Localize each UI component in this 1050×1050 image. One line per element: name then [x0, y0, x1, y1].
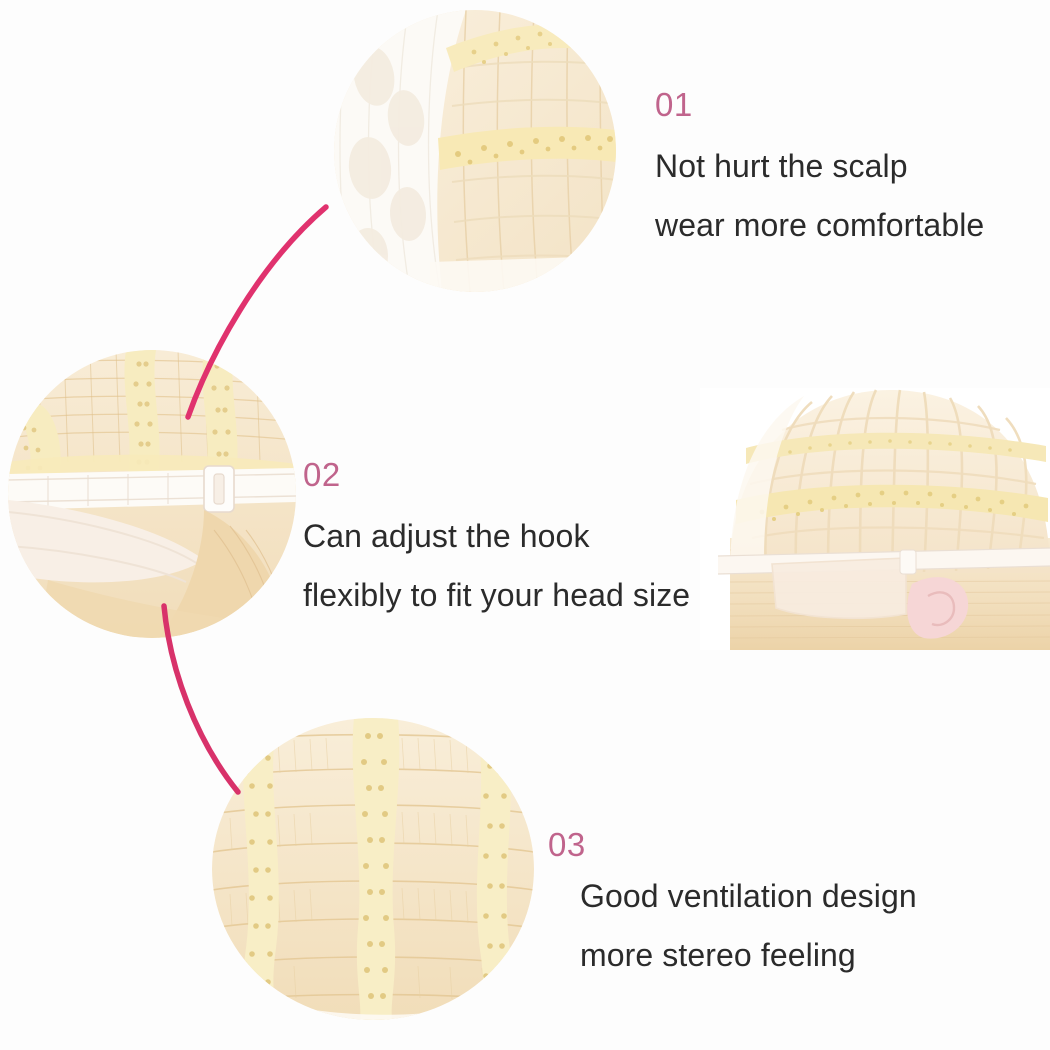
connector-line-02-to-03 — [140, 600, 310, 800]
feature-text-03: Good ventilation design more stereo feel… — [548, 867, 948, 985]
blonde-wig-cap-on-mannequin-head-illustration — [700, 388, 1050, 650]
feature-line-03-b: more stereo feeling — [580, 926, 948, 985]
infographic-canvas: 01 Not hurt the scalp wear more comforta… — [0, 0, 1050, 1050]
connector-line-02-to-01 — [180, 195, 390, 425]
feature-line-03-a: Good ventilation design — [580, 867, 948, 926]
feature-line-02-a: Can adjust the hook — [303, 507, 723, 566]
hero-product-photo — [700, 388, 1050, 650]
feature-line-01-a: Not hurt the scalp — [655, 137, 1035, 196]
feature-text-01: Not hurt the scalp wear more comfortable — [655, 137, 1035, 255]
feature-number-02: 02 — [303, 458, 723, 491]
feature-block-01: 01 Not hurt the scalp wear more comforta… — [655, 88, 1035, 255]
feature-text-02: Can adjust the hook flexibly to fit your… — [303, 507, 723, 625]
feature-line-02-b: flexibly to fit your head size — [303, 566, 723, 625]
feature-block-03: 03 Good ventilation design more stereo f… — [548, 828, 948, 985]
feature-line-01-b: wear more comfortable — [655, 196, 1035, 255]
feature-number-03: 03 — [548, 828, 948, 861]
feature-block-02: 02 Can adjust the hook flexibly to fit y… — [303, 458, 723, 625]
feature-number-01: 01 — [655, 88, 1035, 121]
